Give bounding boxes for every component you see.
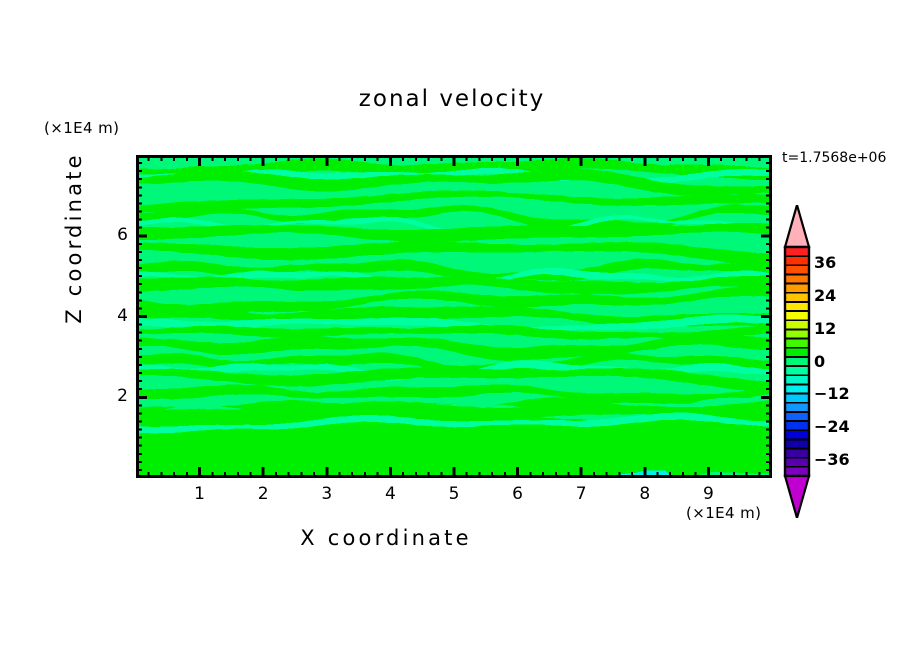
page-title: zonal velocity [0,86,904,112]
colorbar-tick-label: 12 [814,319,836,338]
colorbar-tick-label: 0 [814,352,825,371]
colorbar-tick-label: −12 [814,384,850,403]
y-axis-title: Z coordinate [62,118,86,358]
x-tick-label: 6 [503,484,533,504]
y-tick-label: 4 [98,306,128,326]
x-tick-label: 3 [312,484,342,504]
time-annotation: t=1.7568e+06 [782,150,886,166]
colorbar-tick-label: 36 [814,253,836,272]
colorbar-under-cap [785,476,809,518]
y-tick-label: 6 [98,225,128,245]
colorbar-tick-label: −24 [814,417,850,436]
x-axis-title: X coordinate [0,526,772,550]
x-axis-unit-label: (×1E4 m) [686,504,761,522]
velocity-field [136,155,772,478]
colorbar-over-cap [785,205,809,247]
x-tick-label: 5 [439,484,469,504]
figure-root: zonal velocity (×1E4 m) (×1E4 m) X coord… [0,0,904,654]
colorbar [781,205,813,518]
x-tick-label: 1 [185,484,215,504]
x-tick-label: 4 [375,484,405,504]
contour-plot-panel [136,155,772,478]
x-tick-label: 7 [566,484,596,504]
colorbar-tick-label: −36 [814,450,850,469]
x-tick-label: 9 [693,484,723,504]
colorbar-tick-label: 24 [814,286,836,305]
x-tick-label: 2 [248,484,278,504]
x-tick-label: 8 [630,484,660,504]
y-tick-label: 2 [98,386,128,406]
